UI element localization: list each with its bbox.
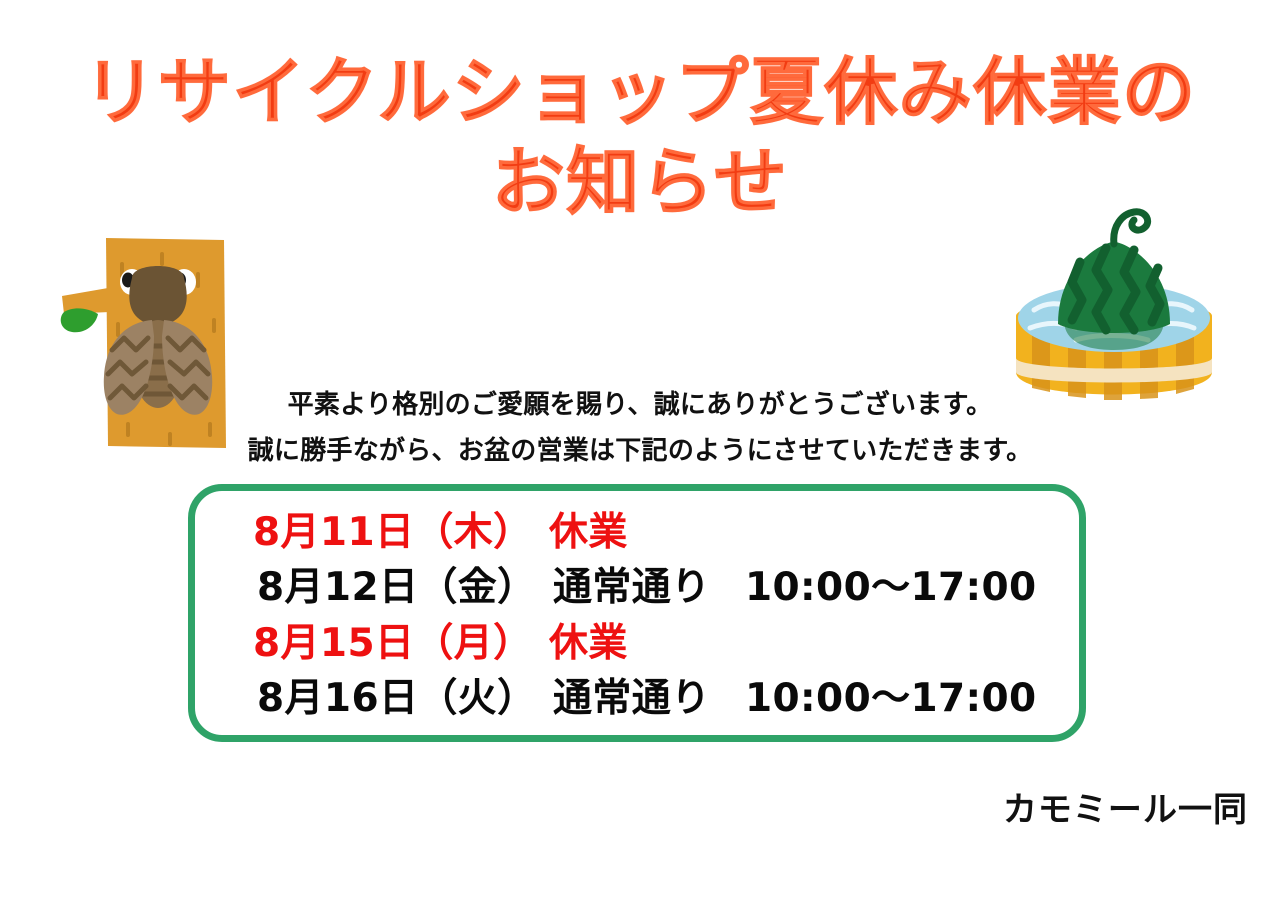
- schedule-row: 8月16日（火）通常通り10:00〜17:00: [257, 671, 1059, 726]
- schedule-date: 8月11日（木）: [253, 505, 549, 560]
- schedule-status: 休業: [549, 505, 741, 560]
- watermelon-stem: [1114, 212, 1148, 244]
- notice-poster: リサイクルショップ夏休み休業の お知らせ: [0, 0, 1280, 905]
- schedule-status: 休業: [549, 616, 741, 671]
- schedule-row: 8月15日（月）休業: [257, 616, 1059, 671]
- schedule-list: 8月11日（木）休業8月12日（金）通常通り10:00〜17:008月15日（月…: [257, 505, 1059, 727]
- schedule-row: 8月12日（金）通常通り10:00〜17:00: [257, 560, 1059, 615]
- schedule-box: 8月11日（木）休業8月12日（金）通常通り10:00〜17:008月15日（月…: [188, 484, 1086, 742]
- greeting-line-2: 誠に勝手ながら、お盆の営業は下記のようにさせていただきます。: [0, 430, 1280, 467]
- signature: カモミール一同: [0, 782, 1248, 831]
- schedule-date: 8月12日（金）: [257, 560, 553, 615]
- schedule-date: 8月15日（月）: [253, 616, 549, 671]
- schedule-row: 8月11日（木）休業: [257, 505, 1059, 560]
- greeting-line-1: 平素より格別のご愛願を賜り、誠にありがとうございます。: [0, 384, 1280, 421]
- schedule-hours: 10:00〜17:00: [745, 560, 1037, 615]
- schedule-status: 通常通り: [553, 671, 745, 726]
- cicada-on-tree-trunk-illustration: [56, 226, 236, 458]
- schedule-status: 通常通り: [553, 560, 745, 615]
- leaf-shape: [61, 308, 98, 332]
- title-line-1: リサイクルショップ夏休み休業の: [0, 52, 1280, 134]
- cicada-body-shape: [129, 266, 186, 326]
- schedule-date: 8月16日（火）: [257, 671, 553, 726]
- schedule-hours: 10:00〜17:00: [745, 671, 1037, 726]
